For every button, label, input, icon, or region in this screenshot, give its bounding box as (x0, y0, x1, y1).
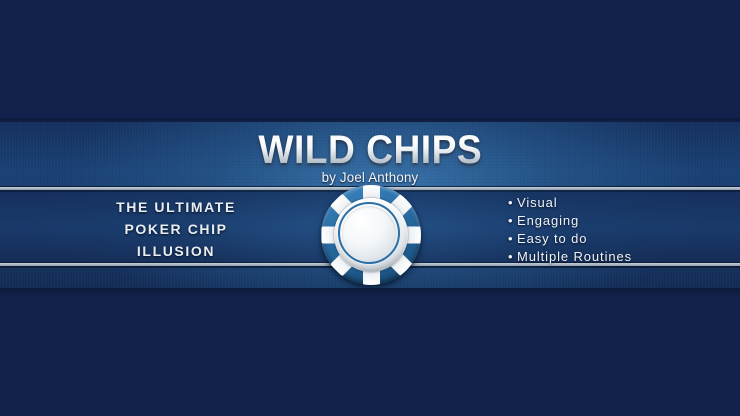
bottom-shade (0, 288, 740, 298)
tagline-line-1: THE ULTIMATE (62, 196, 290, 218)
title-container: WILD CHIPS (0, 128, 740, 172)
tagline-line-2: POKER CHIP (62, 218, 290, 240)
bullet-icon: • (508, 248, 517, 266)
product-title: WILD CHIPS (258, 128, 482, 172)
bullet-icon: • (508, 212, 517, 230)
chip-center-disc (342, 206, 396, 260)
feature-label: Visual (517, 195, 558, 210)
feature-label: Easy to do (517, 231, 587, 246)
banner-bottom-area (0, 288, 740, 416)
product-tagline: THE ULTIMATE POKER CHIP ILLUSION (62, 196, 290, 262)
product-byline: by Joel Anthony (19, 169, 722, 185)
poker-chip-icon (321, 185, 421, 285)
list-item: •Easy to do (508, 230, 632, 248)
feature-label: Multiple Routines (517, 249, 632, 264)
list-item: •Multiple Routines (508, 248, 632, 266)
feature-label: Engaging (517, 213, 579, 228)
list-item: •Visual (508, 194, 632, 212)
bullet-icon: • (508, 194, 517, 212)
list-item: •Engaging (508, 212, 632, 230)
product-banner: WILD CHIPS by Joel Anthony THE ULTIMATE … (0, 0, 740, 416)
bullet-icon: • (508, 230, 517, 248)
feature-list: •Visual •Engaging •Easy to do •Multiple … (508, 194, 632, 266)
tagline-line-3: ILLUSION (62, 240, 290, 262)
